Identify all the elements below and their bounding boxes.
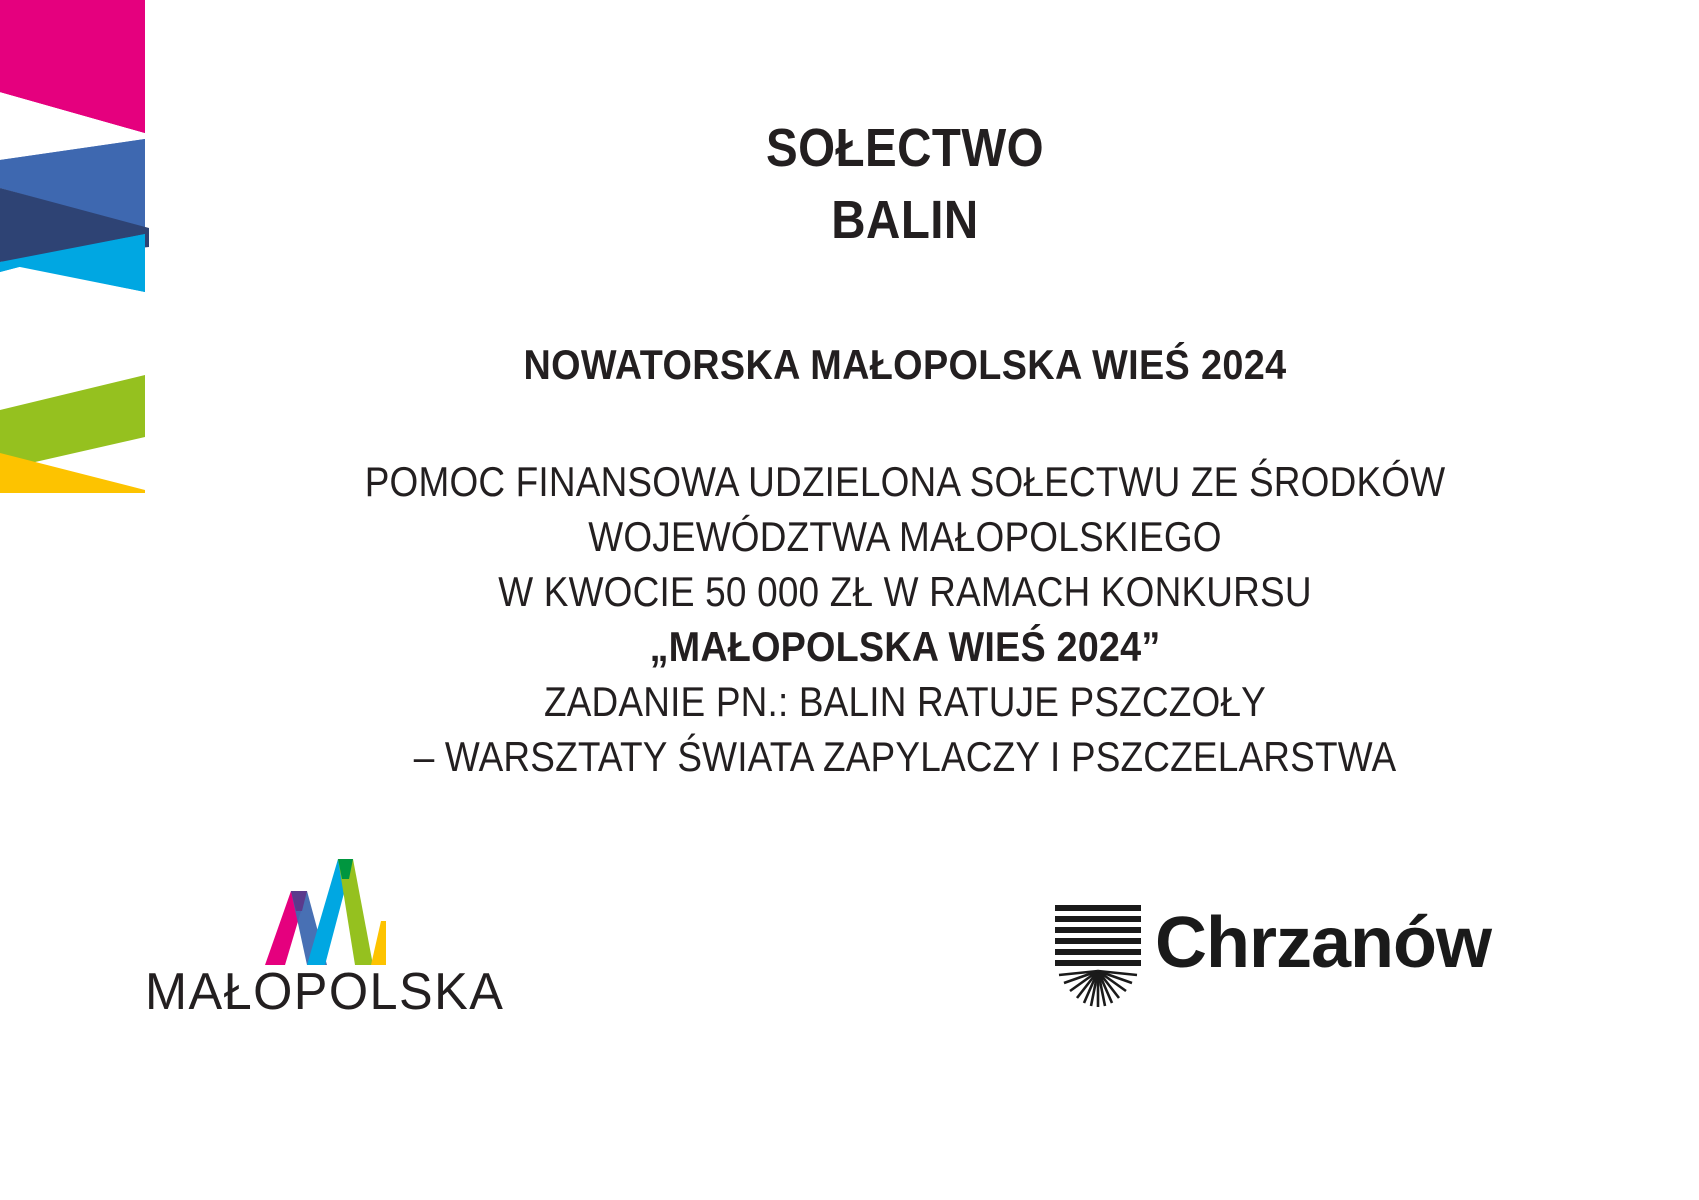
body-line: W KWOCIE 50 000 ZŁ W RAMACH KONKURSU — [267, 564, 1543, 619]
chrzanow-rays-mark-svg — [1055, 903, 1145, 1013]
decorative-corner-ribbon — [0, 0, 170, 530]
malopolska-wordmark: MAŁOPOLSKA — [145, 963, 494, 1021]
page-title-line-1: SOŁECTWO — [267, 112, 1543, 184]
body-line: WOJEWÓDZTWA MAŁOPOLSKIEGO — [267, 509, 1543, 564]
chrzanow-wordmark: Chrzanów — [1155, 905, 1491, 981]
mark-horizontal-stripes — [1055, 905, 1141, 966]
page-subtitle: NOWATORSKA MAŁOPOLSKA WIEŚ 2024 — [253, 338, 1558, 392]
malopolska-m-mark-svg — [255, 855, 395, 965]
ribbon-band-green — [0, 375, 145, 470]
page-title-line-2: BALIN — [267, 184, 1543, 256]
mark-stroke-yellow — [371, 921, 386, 965]
malopolska-m-mark-icon — [255, 855, 395, 965]
body-line-competition-name: „MAŁOPOLSKA WIEŚ 2024” — [253, 619, 1558, 674]
chrzanow-logo: Chrzanów — [1055, 903, 1425, 1023]
malopolska-logo: MAŁOPOLSKA — [145, 855, 505, 1035]
mark-radiating-rays — [1059, 971, 1137, 1007]
body-line: POMOC FINANSOWA UDZIELONA SOŁECTWU ZE ŚR… — [267, 454, 1543, 509]
body-line: ZADANIE PN.: BALIN RATUJE PSZCZOŁY — [267, 674, 1543, 729]
chrzanow-rays-mark-icon — [1055, 903, 1145, 1013]
ribbon-band-yellow — [0, 453, 145, 493]
page-title: SOŁECTWO BALIN — [180, 112, 1630, 256]
body-paragraph: POMOC FINANSOWA UDZIELONA SOŁECTWU ZE ŚR… — [180, 454, 1630, 784]
corner-ribbon-svg — [0, 0, 170, 530]
logos-row: MAŁOPOLSKA — [0, 855, 1699, 1055]
body-line: – WARSZTATY ŚWIATA ZAPYLACZY I PSZCZELAR… — [267, 729, 1543, 784]
certificate-text-block: SOŁECTWO BALIN NOWATORSKA MAŁOPOLSKA WIE… — [180, 0, 1630, 784]
